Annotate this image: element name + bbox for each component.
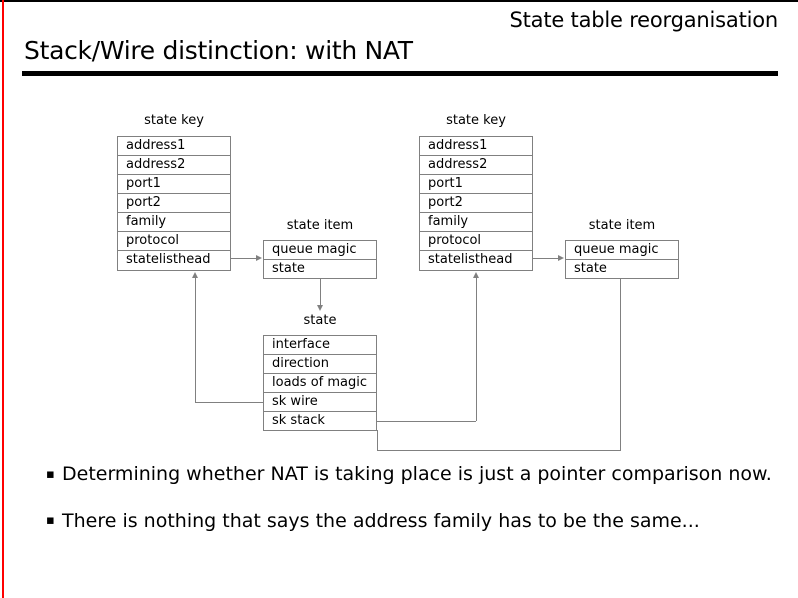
struct-field-row: sk stack <box>264 412 376 431</box>
bullet-marker-icon: ▪ <box>46 461 54 489</box>
right-state-key-struct: address1 address2 port1 port2 family pro… <box>419 136 533 271</box>
struct-field-row: address2 <box>420 156 532 175</box>
arrowhead-skwire-to-left-key <box>192 272 198 278</box>
slide-canvas: State table reorganisation Stack/Wire di… <box>0 0 798 598</box>
list-item: ▪There is nothing that says the address … <box>18 507 780 536</box>
bullet-text: Determining whether NAT is taking place … <box>62 463 772 485</box>
struct-field-row: state <box>566 260 678 279</box>
struct-field-row: protocol <box>118 232 230 251</box>
bullet-text: There is nothing that says the address f… <box>62 510 700 532</box>
connector-skwire-vertical <box>195 277 196 402</box>
struct-field-row: interface <box>264 336 376 355</box>
connector-right-item-horizontal <box>377 450 621 451</box>
title-underline <box>22 71 778 76</box>
struct-field-row: protocol <box>420 232 532 251</box>
right-state-key-caption: state key <box>419 113 533 128</box>
page-title: Stack/Wire distinction: with NAT <box>24 36 413 66</box>
struct-field-row: state <box>264 260 376 279</box>
struct-field-row: address1 <box>118 137 230 156</box>
connector-skwire-horizontal <box>195 402 263 403</box>
struct-field-row: port2 <box>420 194 532 213</box>
arrowhead-left-key-to-item <box>256 255 262 261</box>
arrowhead-right-key-to-item <box>558 255 564 261</box>
state-struct-caption: state <box>263 313 377 328</box>
left-state-item-caption: state item <box>263 218 377 233</box>
connector-skstack-horizontal <box>377 421 476 422</box>
connector-left-key-to-item <box>231 258 257 259</box>
connector-right-key-to-item <box>533 258 559 259</box>
struct-field-row: direction <box>264 355 376 374</box>
struct-field-row: family <box>118 213 230 232</box>
struct-field-row: statelisthead <box>420 251 532 270</box>
left-state-key-caption: state key <box>117 113 231 128</box>
struct-field-row: port1 <box>420 175 532 194</box>
left-state-item-struct: queue magic state <box>263 240 377 279</box>
connector-right-item-stub <box>377 430 378 451</box>
struct-field-row: port2 <box>118 194 230 213</box>
slide-top-border <box>0 0 798 2</box>
struct-field-row: address1 <box>420 137 532 156</box>
left-state-key-struct: address1 address2 port1 port2 family pro… <box>117 136 231 271</box>
bullet-list: ▪Determining whether NAT is taking place… <box>18 460 780 553</box>
arrowhead-skstack-to-right-key <box>473 272 479 278</box>
arrowhead-item-to-state <box>317 305 323 311</box>
slide-left-accent-bar <box>2 0 4 598</box>
right-state-item-struct: queue magic state <box>565 240 679 279</box>
right-state-item-caption: state item <box>565 218 679 233</box>
struct-field-row: loads of magic <box>264 374 376 393</box>
struct-field-row: queue magic <box>566 241 678 260</box>
struct-field-row: sk wire <box>264 393 376 412</box>
connector-skstack-vertical <box>476 277 477 421</box>
state-struct: interface direction loads of magic sk wi… <box>263 335 377 431</box>
connector-right-item-vertical <box>620 279 621 451</box>
struct-field-row: port1 <box>118 175 230 194</box>
struct-field-row: statelisthead <box>118 251 230 270</box>
struct-field-row: queue magic <box>264 241 376 260</box>
slide-kicker: State table reorganisation <box>509 8 778 32</box>
list-item: ▪Determining whether NAT is taking place… <box>18 460 780 489</box>
bullet-marker-icon: ▪ <box>46 507 54 535</box>
struct-field-row: family <box>420 213 532 232</box>
struct-field-row: address2 <box>118 156 230 175</box>
